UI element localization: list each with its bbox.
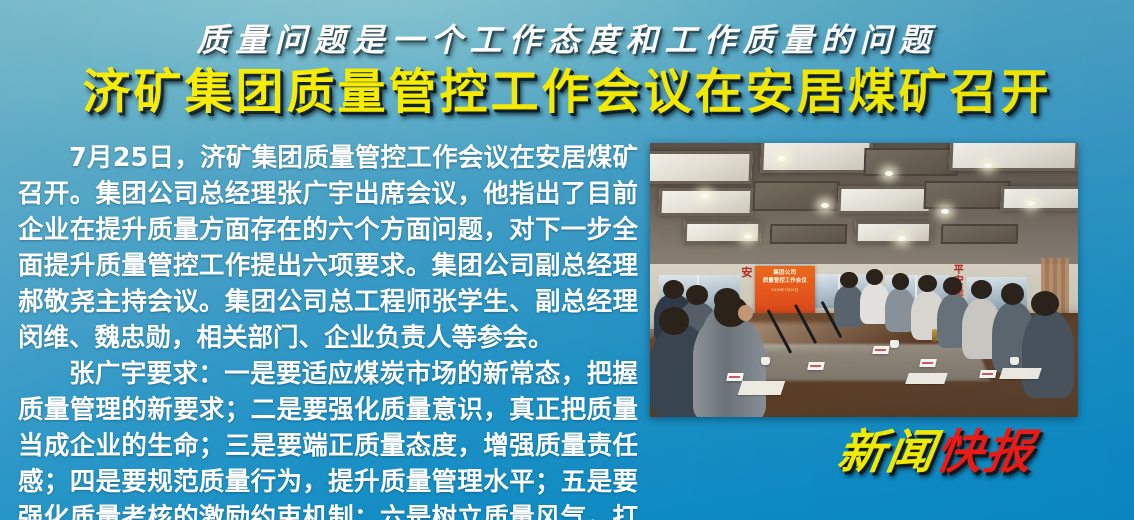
document-sheet [905,373,947,384]
attendee [1022,310,1073,398]
attendee-head [1001,283,1025,305]
ceiling [650,143,1078,269]
banner-line-1: 集团公司 [757,270,813,277]
name-card [872,346,890,354]
attendee-head [918,275,937,293]
badge-text-yellow: 新闻 [834,425,941,480]
photo-scene: 安 平安是福 集团公司 质量管控工作会议 2015年7月25日 [650,143,1078,417]
article-paragraph-1: 7月25日，济矿集团质量管控工作会议在安居煤矿召开。集团公司总经理张广宇出席会议… [18,140,638,356]
wall-character-left: 安 [740,267,754,279]
slide-header: 质量问题是一个工作态度和工作质量的问题 济矿集团质量管控工作会议在安居煤矿召开 [0,0,1134,132]
slide-subtitle: 质量问题是一个工作态度和工作质量的问题 [0,20,1134,60]
document-sheet [738,381,785,395]
page-title: 济矿集团质量管控工作会议在安居煤矿召开 [0,64,1134,120]
name-card [919,359,937,367]
meeting-photo: 安 平安是福 集团公司 质量管控工作会议 2015年7月25日 [650,143,1078,417]
banner-line-3: 2015年7月25日 [757,287,813,293]
tea-mug [890,340,899,348]
article-body: 7月25日，济矿集团质量管控工作会议在安居煤矿召开。集团公司总经理张广宇出席会议… [18,140,638,520]
attendee-face [738,305,753,321]
attendee-head [892,273,909,289]
attendee-head [840,272,857,288]
name-card [808,362,826,370]
banner-line-2: 质量管控工作会议 [757,278,813,285]
water-bottle [932,329,937,342]
attendee-head [1031,291,1059,316]
document-sheet [999,368,1041,379]
name-card [726,373,744,381]
news-slide: 质量问题是一个工作态度和工作质量的问题 济矿集团质量管控工作会议在安居煤矿召开 … [0,0,1134,520]
article-paragraph-2: 张广宇要求：一是要适应煤炭市场的新常态，把握质量管理的新要求；二是要强化质量意识… [18,356,638,520]
name-card [979,370,997,378]
news-flash-badge: 新闻快报 [833,424,1038,482]
badge-text-red: 快报 [932,425,1039,480]
tea-mug [1010,357,1019,365]
attendee-head [659,307,689,334]
attendee-head [686,285,707,304]
tea-mug [761,357,770,365]
attendee-foreground [693,316,766,417]
